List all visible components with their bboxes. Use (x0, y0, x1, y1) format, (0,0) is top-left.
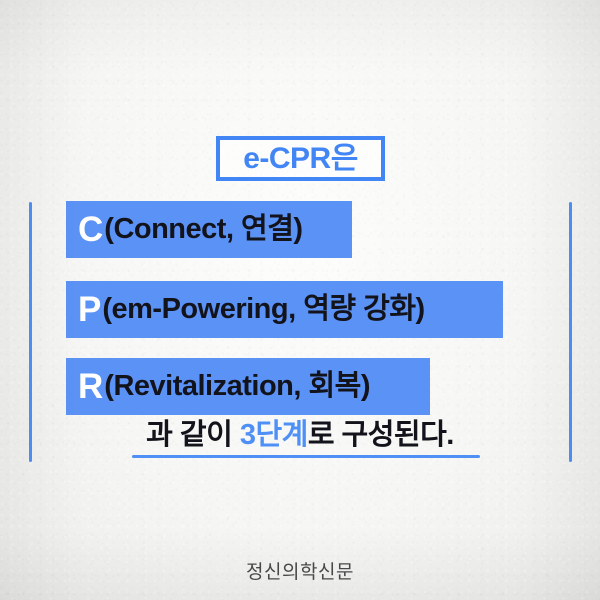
step-letter-p: P (78, 292, 101, 327)
page-title: e-CPR은 (243, 144, 358, 174)
step-text-r: (Revitalization, 회복) (104, 372, 370, 401)
closing-underline (132, 455, 480, 458)
step-row-connect: C (Connect, 연결) (66, 201, 352, 258)
infographic-card: e-CPR은 C (Connect, 연결) P (em-Powering, 역… (0, 0, 600, 600)
closing-before: 과 같이 (146, 419, 240, 451)
step-letter-c: C (78, 212, 103, 247)
step-letter-r: R (78, 369, 103, 404)
closing-sentence: 과 같이 3단계로 구성된다. (0, 418, 600, 453)
publisher-credit: 정신의학신문 (0, 557, 600, 584)
closing-highlight: 3단계 (240, 419, 308, 451)
step-text-p: (em-Powering, 역량 강화) (102, 295, 424, 324)
closing-after: 로 구성된다. (308, 419, 454, 451)
step-text-c: (Connect, 연결) (104, 215, 302, 244)
step-row-empowering: P (em-Powering, 역량 강화) (66, 281, 503, 338)
title-box: e-CPR은 (216, 136, 385, 181)
step-row-revitalization: R (Revitalization, 회복) (66, 358, 430, 415)
